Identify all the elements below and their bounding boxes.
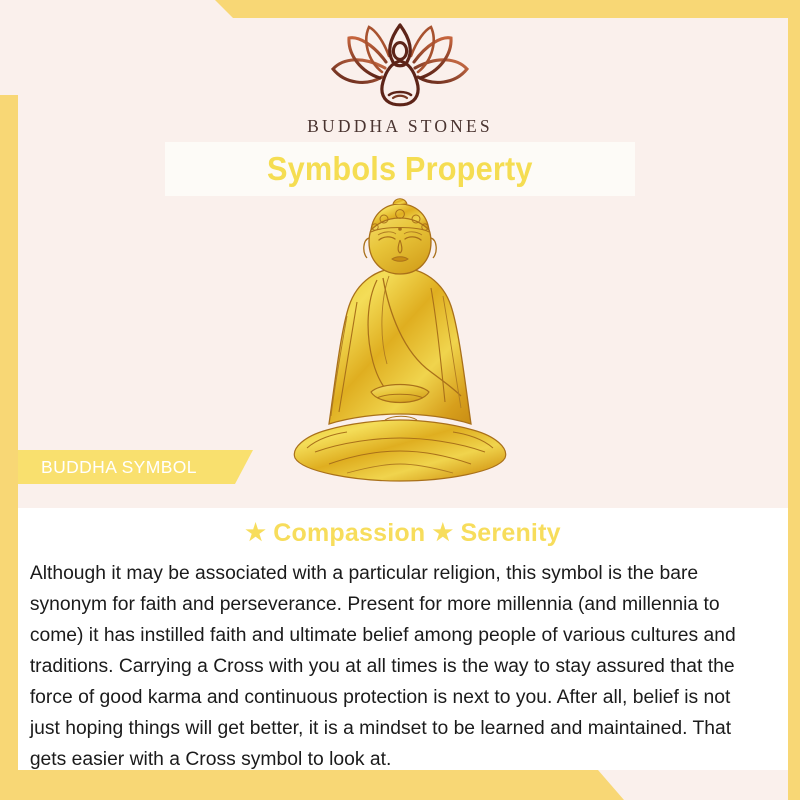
content-panel: ★ Compassion ★ Serenity Although it may … xyxy=(18,508,788,770)
brand-block: BUDDHA STONES xyxy=(0,22,800,137)
page-title: Symbols Property xyxy=(267,150,533,188)
infographic-page: BUDDHA STONES Symbols Property xyxy=(0,0,800,800)
section-tagline: ★ Compassion ★ Serenity xyxy=(18,508,788,548)
tagline-word-compassion: Compassion xyxy=(273,519,425,547)
decorative-top-yellow-band xyxy=(0,0,800,18)
buddha-symbol-ribbon-label: BUDDHA SYMBOL xyxy=(18,457,197,478)
seated-golden-buddha-statue-icon xyxy=(285,196,515,486)
star-icon-2: ★ xyxy=(432,519,453,545)
buddha-symbol-ribbon: BUDDHA SYMBOL xyxy=(18,450,253,484)
section-body-text: Although it may be associated with a par… xyxy=(18,548,776,775)
lotus-meditation-figure-icon xyxy=(325,22,475,114)
hero-illustration xyxy=(0,196,800,491)
title-band: Symbols Property xyxy=(165,142,635,196)
tagline-word-serenity: Serenity xyxy=(460,519,560,547)
star-icon-1: ★ xyxy=(245,519,266,545)
brand-name: BUDDHA STONES xyxy=(0,116,800,137)
